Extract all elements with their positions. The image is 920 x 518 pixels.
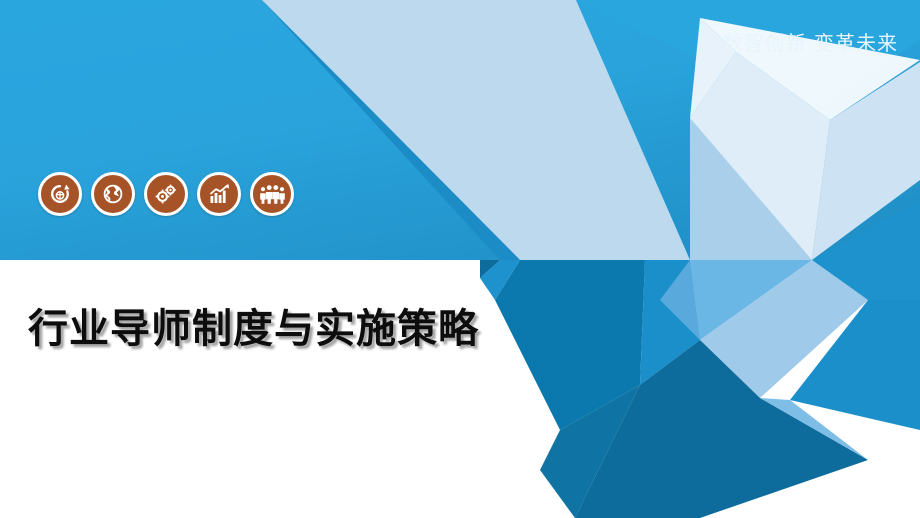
bar-chart-growth-icon [207,182,232,207]
page-title: 行业导师制度与实施策略 [28,296,479,354]
icon-badge-row [38,172,294,216]
polygon-artwork [0,0,920,518]
icon-badge-bar-chart-growth[interactable] [197,172,241,216]
team-people-icon [259,183,286,205]
icon-badge-gears[interactable] [144,172,188,216]
presentation-slide: 数智创新 变革未来 [0,0,920,518]
globe-icon [101,182,125,206]
icon-badge-globe[interactable] [91,172,135,216]
recycle-globe-icon [48,182,72,206]
icon-badge-recycle-globe[interactable] [38,172,82,216]
icon-badge-team-people[interactable] [250,172,294,216]
slide-tagline: 数智创新 变革未来 [723,27,898,56]
gears-icon [153,181,179,207]
